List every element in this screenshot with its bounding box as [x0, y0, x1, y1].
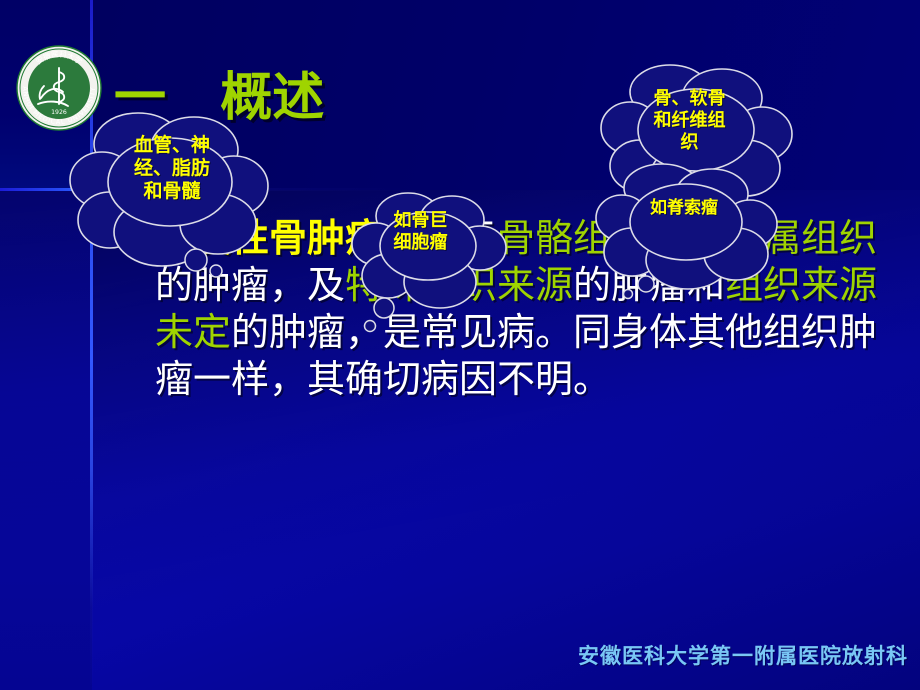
thought-cloud-giant-cell-tumor: 如骨巨 细胞瘤	[348, 188, 514, 338]
thought-cloud-bone-cartilage-fibrous-label: 骨、软骨 和纤维组 织	[622, 88, 757, 154]
thought-cloud-vessels-nerves-label: 血管、神 经、脂肪 和骨髓	[92, 134, 252, 204]
body-run-6: ，及	[269, 263, 345, 307]
thought-cloud-chordoma-label: 如脊索瘤	[614, 198, 754, 219]
slide-footer: 安徽医科大学第一附属医院放射科	[0, 640, 908, 670]
thought-cloud-vessels-nerves: 血管、神 经、脂肪 和骨髓	[66, 108, 278, 278]
thought-cloud-giant-cell-tumor-label: 如骨巨 细胞瘤	[368, 210, 473, 254]
slide-canvas: 安徽医科大学 ANHUI MEDICAL UNIVERSITY 1926 一 概…	[0, 0, 920, 690]
thought-cloud-chordoma: 如脊索瘤	[592, 160, 782, 300]
svg-text:1926: 1926	[51, 109, 67, 116]
